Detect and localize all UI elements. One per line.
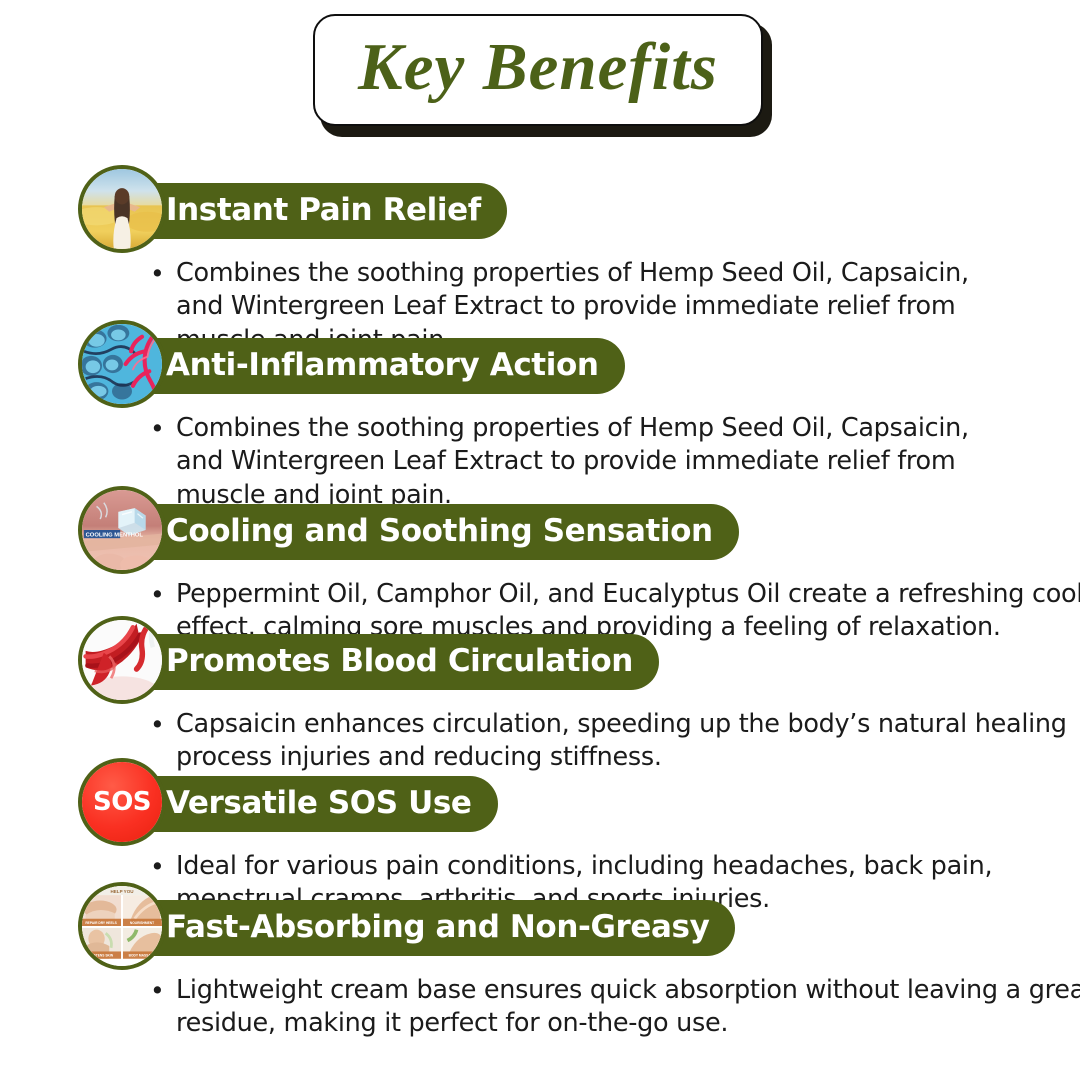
benefit-heading-row: Instant Pain Relief xyxy=(0,165,1080,257)
benefit-item-promotes-blood-circulation: Promotes Blood Circulation • Capsaicin e… xyxy=(0,616,1080,775)
woman-arms-outstretched-field-photo-icon xyxy=(78,165,166,253)
benefit-heading-label: Versatile SOS Use xyxy=(166,788,472,819)
benefit-description: • Lightweight cream base ensures quick a… xyxy=(0,974,1080,1041)
benefit-heading-row: Anti-Inflammatory Action xyxy=(0,320,1080,412)
svg-text:SOFTENS SKIN: SOFTENS SKIN xyxy=(89,954,114,958)
benefit-heading-pill[interactable]: Fast-Absorbing and Non-Greasy xyxy=(108,900,735,956)
benefit-heading-label: Promotes Blood Circulation xyxy=(166,646,633,677)
benefit-heading-row: Cooling and Soothing Sensation xyxy=(0,486,1080,578)
bullet-icon: • xyxy=(150,413,164,446)
sos-badge-label: SOS xyxy=(93,787,151,817)
blood-vessels-photo-icon xyxy=(78,616,166,704)
svg-text:REPAIR DRY HEELS: REPAIR DRY HEELS xyxy=(85,921,117,925)
svg-text:BODY MASSAGE: BODY MASSAGE xyxy=(129,954,157,958)
ice-cube-on-skin-photo-icon: COOLING MENTHOL xyxy=(78,486,166,574)
title-banner-box: Key Benefits xyxy=(313,14,763,126)
benefit-heading-pill[interactable]: Promotes Blood Circulation xyxy=(108,634,659,690)
svg-text:NOURISHMENT: NOURISHMENT xyxy=(130,921,154,925)
svg-text:COOLING MENTHOL: COOLING MENTHOL xyxy=(86,533,144,539)
benefit-description-text: Lightweight cream base ensures quick abs… xyxy=(176,975,1080,1038)
benefit-heading-row: Promotes Blood Circulation xyxy=(0,616,1080,708)
bullet-icon: • xyxy=(150,709,164,742)
inflamed-cells-microscopy-photo-icon xyxy=(78,320,166,408)
sos-badge-fill: SOS xyxy=(82,762,162,842)
benefit-heading-pill[interactable]: Versatile SOS Use xyxy=(108,776,498,832)
page-title: Key Benefits xyxy=(358,34,718,101)
benefit-heading-label: Cooling and Soothing Sensation xyxy=(166,516,713,547)
page-title-banner: Key Benefits xyxy=(313,14,765,131)
bullet-icon: • xyxy=(150,258,164,291)
sos-badge-icon: SOS xyxy=(78,758,166,846)
benefit-heading-row: Fast-Absorbing and Non-Greasy HELP YOU R… xyxy=(0,882,1080,974)
svg-text:HELP YOU: HELP YOU xyxy=(111,889,134,894)
benefit-heading-pill[interactable]: Cooling and Soothing Sensation xyxy=(108,504,739,560)
bullet-icon: • xyxy=(150,851,164,884)
bullet-icon: • xyxy=(150,579,164,612)
benefit-item-fast-absorbing-and-non-greasy: Fast-Absorbing and Non-Greasy HELP YOU R… xyxy=(0,882,1080,1041)
benefit-heading-label: Instant Pain Relief xyxy=(166,195,481,226)
benefit-heading-row: Versatile SOS Use SOS xyxy=(0,758,1080,850)
skincare-collage-photo-icon: HELP YOU REPAIR DRY HEELS NOURISHMENT xyxy=(78,882,166,970)
benefit-item-anti-inflammatory-action: Anti-Inflammatory Action xyxy=(0,320,1080,512)
benefit-heading-label: Fast-Absorbing and Non-Greasy xyxy=(166,912,709,943)
benefit-heading-pill[interactable]: Anti-Inflammatory Action xyxy=(108,338,625,394)
benefit-heading-pill[interactable]: Instant Pain Relief xyxy=(108,183,507,239)
bullet-icon: • xyxy=(150,975,164,1008)
benefit-heading-label: Anti-Inflammatory Action xyxy=(166,350,599,381)
